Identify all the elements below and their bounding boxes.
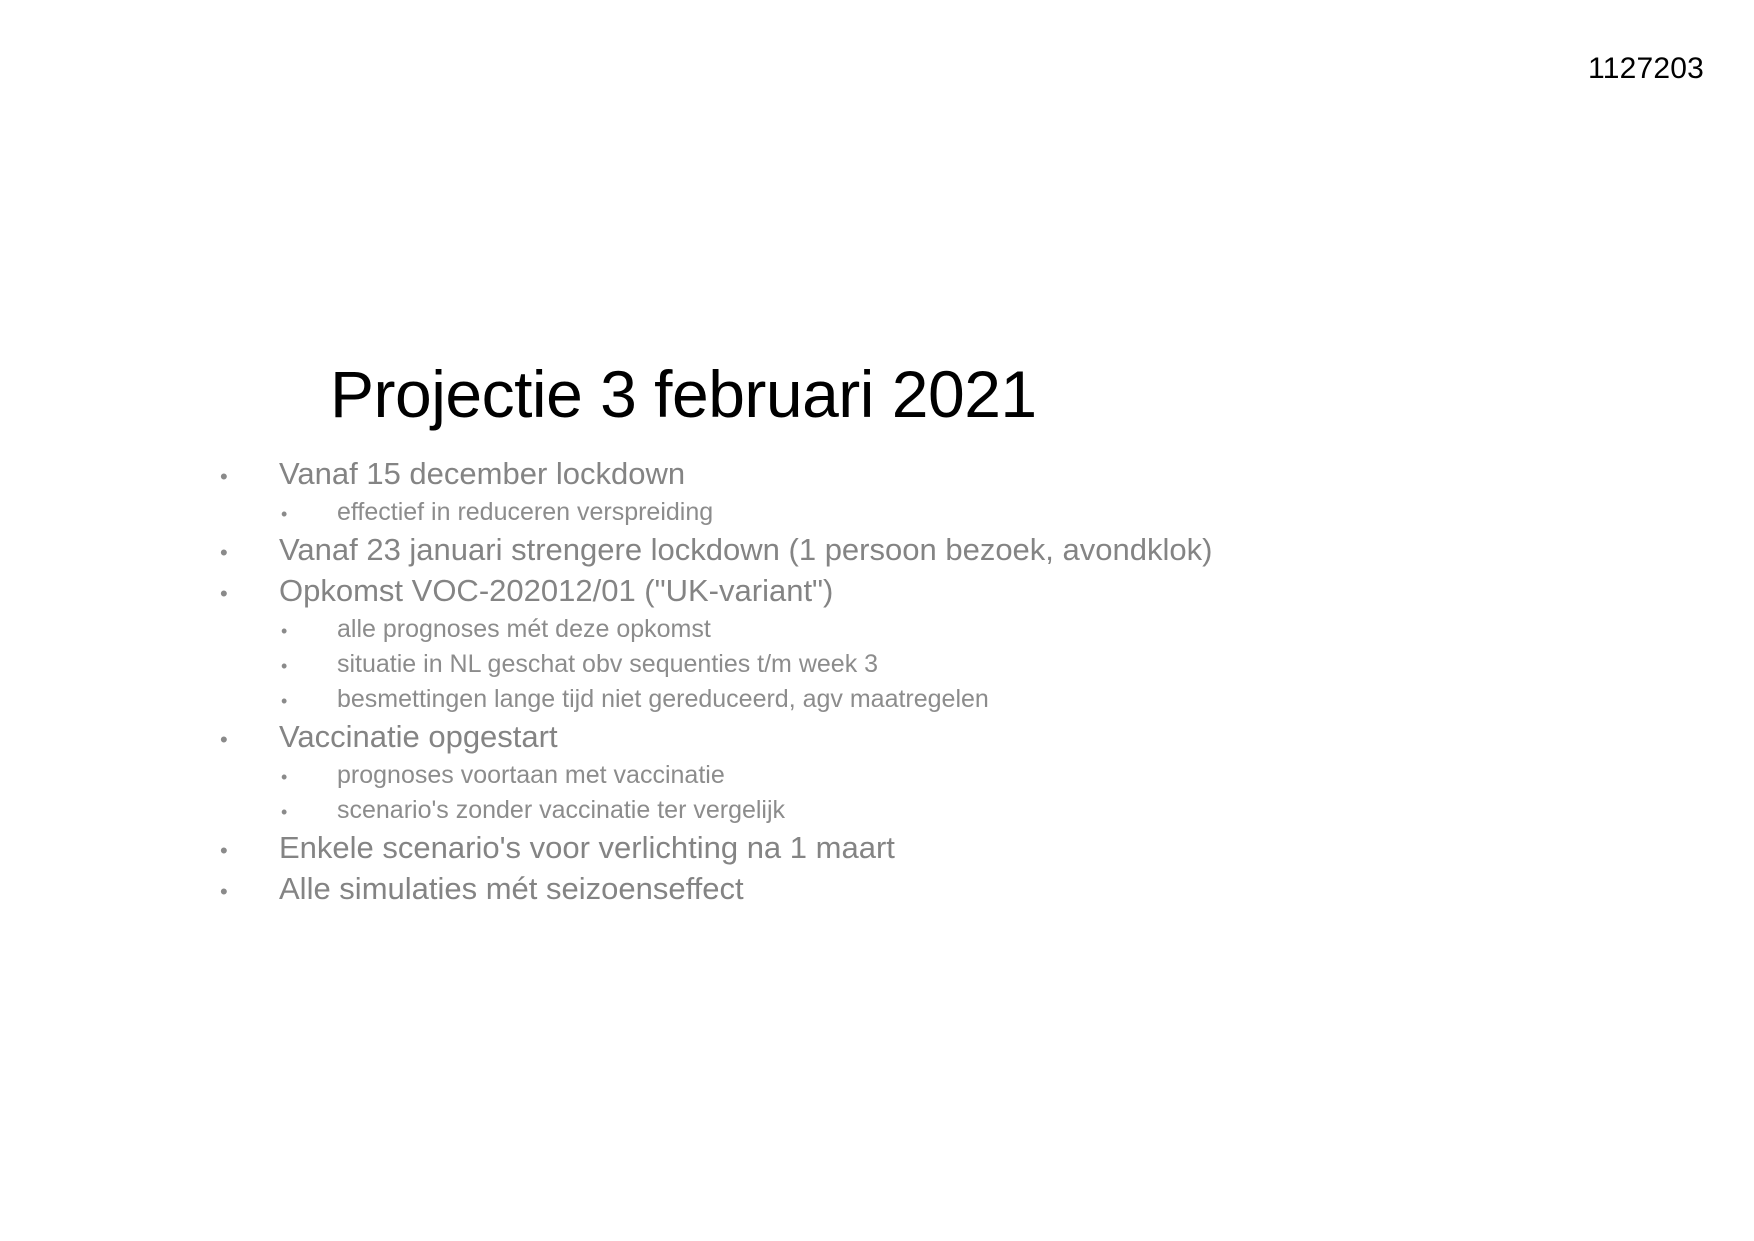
list-item: •Alle simulaties mét seizoenseffect <box>210 870 1530 911</box>
bullet-marker-icon: • <box>281 685 337 718</box>
bullet-list: •Vanaf 15 december lockdown•effectief in… <box>210 455 1530 911</box>
list-item-label: besmettingen lange tijd niet gereduceerd… <box>337 683 989 716</box>
list-item-label: situatie in NL geschat obv sequenties t/… <box>337 648 878 681</box>
list-item-label: Enkele scenario's voor verlichting na 1 … <box>279 829 895 867</box>
bullet-marker-icon: • <box>281 761 337 794</box>
list-item-label: Vaccinatie opgestart <box>279 718 558 756</box>
list-item: •situatie in NL geschat obv sequenties t… <box>210 648 1530 683</box>
bullet-marker-icon: • <box>220 534 279 572</box>
slide-canvas: 1127203 Projectie 3 februari 2021 •Vanaf… <box>0 0 1754 1241</box>
list-item-label: Vanaf 23 januari strengere lockdown (1 p… <box>279 531 1212 569</box>
list-item: •Vanaf 23 januari strengere lockdown (1 … <box>210 531 1530 572</box>
list-item: •effectief in reduceren verspreiding <box>210 496 1530 531</box>
bullet-marker-icon: • <box>220 458 279 496</box>
bullet-marker-icon: • <box>220 873 279 911</box>
list-item-label: Alle simulaties mét seizoenseffect <box>279 870 744 908</box>
list-item: •Vanaf 15 december lockdown <box>210 455 1530 496</box>
list-item: •alle prognoses mét deze opkomst <box>210 613 1530 648</box>
list-item-label: Vanaf 15 december lockdown <box>279 455 685 493</box>
page-title: Projectie 3 februari 2021 <box>330 360 1430 429</box>
bullet-marker-icon: • <box>281 796 337 829</box>
list-item-label: scenario's zonder vaccinatie ter vergeli… <box>337 794 785 827</box>
list-item-label: alle prognoses mét deze opkomst <box>337 613 711 646</box>
list-item-label: Opkomst VOC-202012/01 ("UK-variant") <box>279 572 833 610</box>
list-item: •Opkomst VOC-202012/01 ("UK-variant") <box>210 572 1530 613</box>
list-item: •Vaccinatie opgestart <box>210 718 1530 759</box>
list-item: •besmettingen lange tijd niet gereduceer… <box>210 683 1530 718</box>
document-number: 1127203 <box>1588 52 1704 85</box>
bullet-marker-icon: • <box>281 498 337 531</box>
list-item-label: effectief in reduceren verspreiding <box>337 496 713 529</box>
list-item: •prognoses voortaan met vaccinatie <box>210 759 1530 794</box>
list-item-label: prognoses voortaan met vaccinatie <box>337 759 725 792</box>
bullet-marker-icon: • <box>220 721 279 759</box>
bullet-marker-icon: • <box>220 832 279 870</box>
bullet-marker-icon: • <box>281 615 337 648</box>
bullet-marker-icon: • <box>220 575 279 613</box>
list-item: •Enkele scenario's voor verlichting na 1… <box>210 829 1530 870</box>
bullet-marker-icon: • <box>281 650 337 683</box>
list-item: •scenario's zonder vaccinatie ter vergel… <box>210 794 1530 829</box>
